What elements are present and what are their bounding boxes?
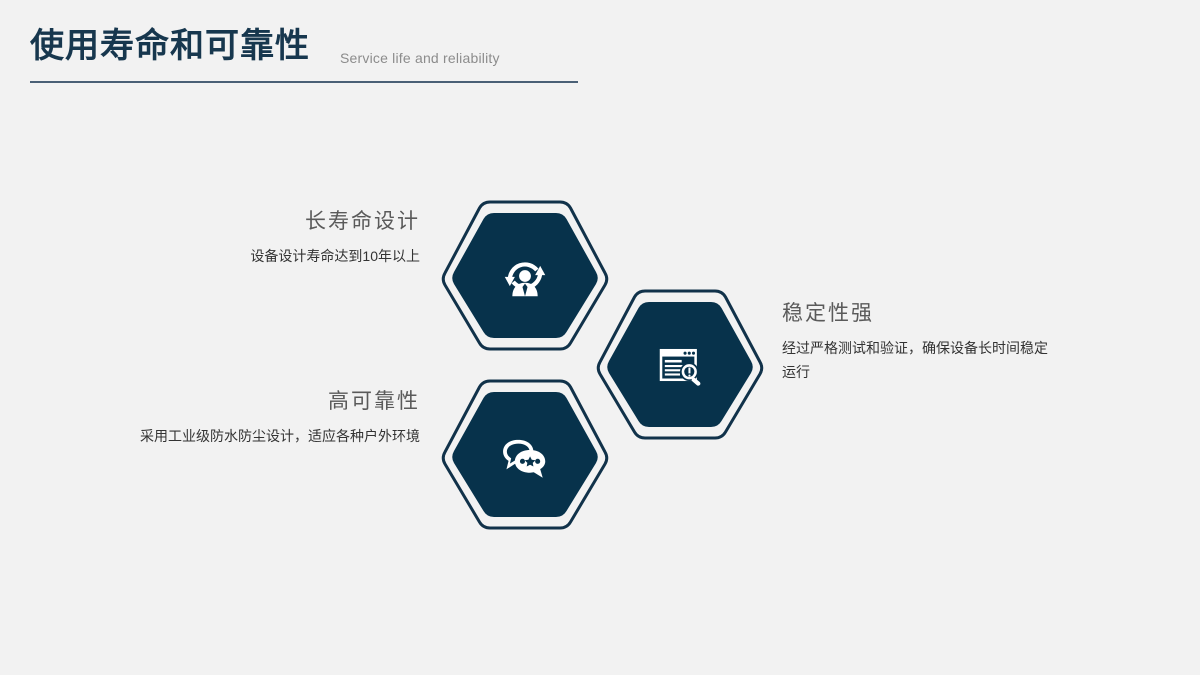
feature-title: 稳定性强 — [782, 298, 1057, 328]
chat-bubbles-star-icon — [498, 428, 552, 482]
hexagon-long-life-design[interactable] — [441, 198, 609, 353]
hexagon-strong-stability[interactable] — [596, 287, 764, 442]
feature-title: 长寿命设计 — [120, 206, 420, 236]
feature-description: 设备设计寿命达到10年以上 — [120, 244, 420, 268]
slide-canvas: 使用寿命和可靠性 Service life and reliability — [0, 0, 1200, 675]
feature-description: 经过严格测试和验证，确保设备长时间稳定运行 — [782, 336, 1057, 384]
feature-title: 高可靠性 — [110, 386, 420, 416]
feature-block-strong-stability: 稳定性强 经过严格测试和验证，确保设备长时间稳定运行 — [782, 298, 1057, 384]
hexagon-high-reliability[interactable] — [441, 377, 609, 532]
window-magnifier-icon — [653, 338, 707, 392]
lifecycle-person-icon — [498, 249, 552, 303]
feature-block-long-life-design: 长寿命设计 设备设计寿命达到10年以上 — [120, 206, 420, 268]
feature-block-high-reliability: 高可靠性 采用工业级防水防尘设计，适应各种户外环境 — [110, 386, 420, 448]
feature-description: 采用工业级防水防尘设计，适应各种户外环境 — [110, 424, 420, 448]
